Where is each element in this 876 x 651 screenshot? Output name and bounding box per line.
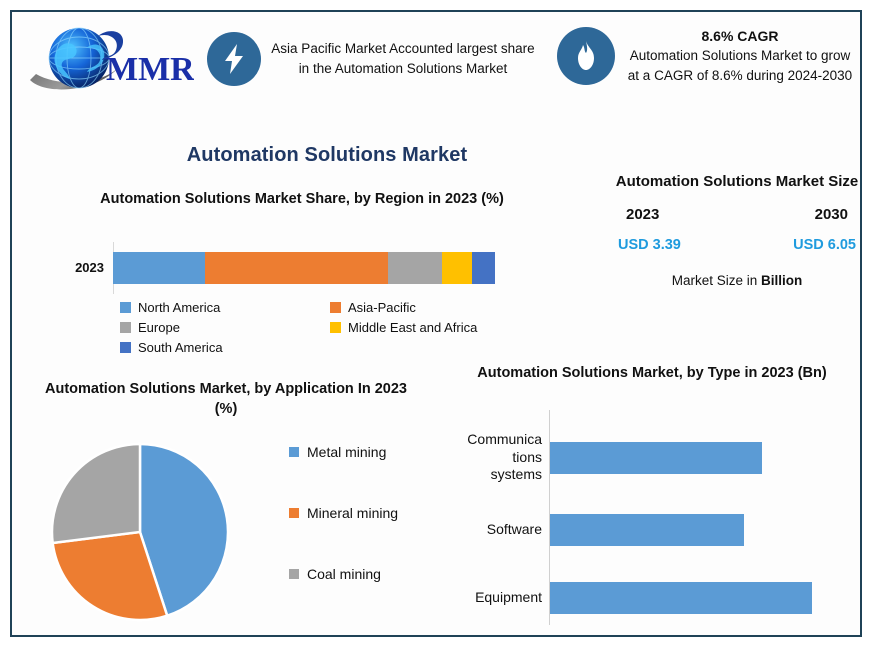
legend-swatch bbox=[120, 322, 131, 333]
region-segment bbox=[388, 252, 441, 284]
market-size-years: 2023 2030 bbox=[612, 206, 862, 223]
region-stacked-bar bbox=[113, 252, 495, 284]
application-share-chart: Automation Solutions Market, by Applicat… bbox=[27, 380, 457, 635]
header: MMR Asia Pacific Market Accounted larges… bbox=[12, 12, 860, 117]
type-category-label: Equipment bbox=[442, 589, 542, 607]
cagr-value: 8.6% CAGR bbox=[623, 26, 857, 46]
type-plot-area: CommunicationssystemsSoftwareEquipment bbox=[442, 410, 862, 625]
pie-legend-item: Mineral mining bbox=[289, 505, 454, 521]
type-bar-row: Communicationssystems bbox=[442, 428, 862, 488]
cagr-description: Automation Solutions Market to grow at a… bbox=[628, 48, 852, 83]
legend-label: Middle East and Africa bbox=[348, 320, 477, 335]
pie-legend: Metal miningMineral miningCoal mining bbox=[289, 444, 454, 627]
pie-legend-item: Coal mining bbox=[289, 566, 454, 582]
type-breakdown-chart: Automation Solutions Market, by Type in … bbox=[442, 364, 862, 634]
flame-icon bbox=[557, 27, 615, 85]
region-bar-category-label: 2023 bbox=[42, 260, 104, 275]
market-size-unit-note: Market Size in Billion bbox=[612, 273, 862, 288]
logo-text: MMR bbox=[106, 51, 194, 88]
type-category-label: Software bbox=[442, 521, 542, 539]
type-category-label: Communicationssystems bbox=[442, 431, 542, 484]
region-segment bbox=[442, 252, 473, 284]
region-segment bbox=[472, 252, 495, 284]
region-legend-item: Europe bbox=[120, 320, 330, 335]
type-bar-row: Software bbox=[442, 500, 862, 560]
market-size-values: USD 3.39 USD 6.05 bbox=[612, 237, 862, 253]
highlight-asia-pacific-text: Asia Pacific Market Accounted largest sh… bbox=[261, 39, 537, 78]
legend-label: Mineral mining bbox=[307, 505, 398, 521]
highlight-asia-pacific: Asia Pacific Market Accounted largest sh… bbox=[207, 32, 537, 86]
legend-label: Metal mining bbox=[307, 444, 386, 460]
pie-plot-area: Metal miningMineral miningCoal mining bbox=[27, 432, 457, 632]
legend-swatch bbox=[289, 508, 299, 518]
market-size-year-2030: 2030 bbox=[815, 206, 848, 223]
region-segment bbox=[113, 252, 205, 284]
pie-chart-title: Automation Solutions Market, by Applicat… bbox=[41, 380, 411, 419]
lightning-bolt-icon bbox=[207, 32, 261, 86]
highlight-cagr: 8.6% CAGR Automation Solutions Market to… bbox=[557, 26, 857, 85]
legend-swatch bbox=[289, 569, 299, 579]
region-segment bbox=[205, 252, 388, 284]
legend-label: Asia-Pacific bbox=[348, 300, 416, 315]
pie-slice bbox=[52, 444, 140, 543]
legend-label: Coal mining bbox=[307, 566, 381, 582]
legend-label: North America bbox=[138, 300, 220, 315]
market-size-value-2023: USD 3.39 bbox=[618, 237, 681, 253]
infographic-frame: MMR Asia Pacific Market Accounted larges… bbox=[10, 10, 862, 637]
region-bar-plot: 2023 bbox=[32, 242, 532, 294]
market-size-panel: Automation Solutions Market Size 2023 20… bbox=[612, 172, 862, 342]
legend-swatch bbox=[289, 447, 299, 457]
region-legend-item: Middle East and Africa bbox=[330, 320, 540, 335]
market-size-unit: Billion bbox=[761, 273, 802, 288]
legend-swatch bbox=[330, 322, 341, 333]
region-legend-item: South America bbox=[120, 340, 330, 355]
mmr-logo: MMR bbox=[24, 22, 194, 102]
market-size-unit-prefix: Market Size in bbox=[672, 273, 761, 288]
highlight-cagr-text: 8.6% CAGR Automation Solutions Market to… bbox=[615, 26, 857, 85]
market-size-title: Automation Solutions Market Size bbox=[612, 172, 862, 192]
region-legend-item: North America bbox=[120, 300, 330, 315]
legend-label: Europe bbox=[138, 320, 180, 335]
type-bar-row: Equipment bbox=[442, 568, 862, 628]
region-share-chart: Automation Solutions Market Share, by Re… bbox=[32, 190, 552, 360]
market-size-year-2023: 2023 bbox=[626, 206, 659, 223]
region-legend-item: Asia-Pacific bbox=[330, 300, 540, 315]
legend-swatch bbox=[120, 302, 131, 313]
legend-swatch bbox=[120, 342, 131, 353]
legend-swatch bbox=[330, 302, 341, 313]
pie-legend-item: Metal mining bbox=[289, 444, 454, 460]
market-size-value-2030: USD 6.05 bbox=[793, 237, 856, 253]
pie-chart bbox=[45, 434, 245, 630]
type-bar bbox=[550, 514, 744, 546]
type-bar bbox=[550, 442, 762, 474]
region-legend: North AmericaAsia-PacificEuropeMiddle Ea… bbox=[120, 300, 540, 360]
type-chart-title: Automation Solutions Market, by Type in … bbox=[452, 364, 852, 384]
page-title: Automation Solutions Market bbox=[12, 144, 642, 167]
legend-label: South America bbox=[138, 340, 223, 355]
type-bar bbox=[550, 582, 812, 614]
region-chart-title: Automation Solutions Market Share, by Re… bbox=[82, 190, 522, 210]
